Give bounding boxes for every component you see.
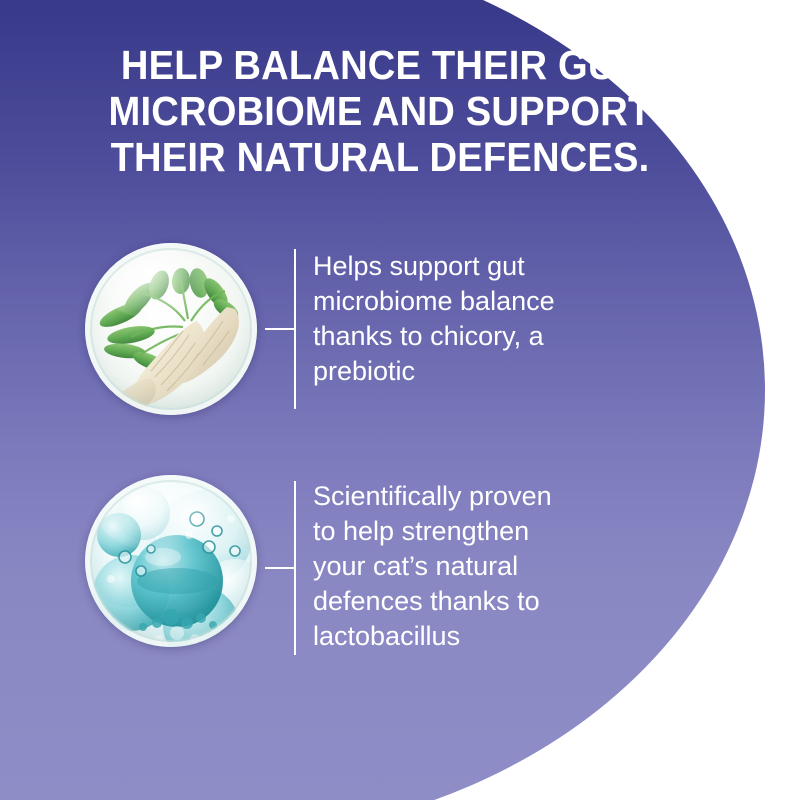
feature-text-lactobacillus-defences: Scientifically proven to help strengthen… (313, 475, 643, 654)
dish-contents-bubbles (85, 475, 257, 647)
parsnip-illustration (85, 243, 257, 415)
connector-line-lactobacillus (257, 475, 313, 661)
parsnip-chicory-petri-dish-image (85, 243, 257, 415)
feature-text-prebiotic-chicory: Helps support gut microbiome balance tha… (313, 243, 643, 389)
page-title: HELP BALANCE THEIR GUT MICROBIOME AND SU… (64, 42, 696, 180)
feature-row-prebiotic-chicory: Helps support gut microbiome balance tha… (85, 243, 643, 415)
horizontal-tick (265, 328, 296, 330)
infographic-canvas: HELP BALANCE THEIR GUT MICROBIOME AND SU… (0, 0, 800, 800)
horizontal-tick (265, 567, 296, 569)
bubbles-illustration (85, 475, 257, 647)
teal-bubbles-petri-dish-image (85, 475, 257, 647)
dish-contents-vegetables (85, 243, 257, 415)
connector-line-prebiotic (257, 243, 313, 415)
feature-row-lactobacillus-defences: Scientifically proven to help strengthen… (85, 475, 643, 661)
